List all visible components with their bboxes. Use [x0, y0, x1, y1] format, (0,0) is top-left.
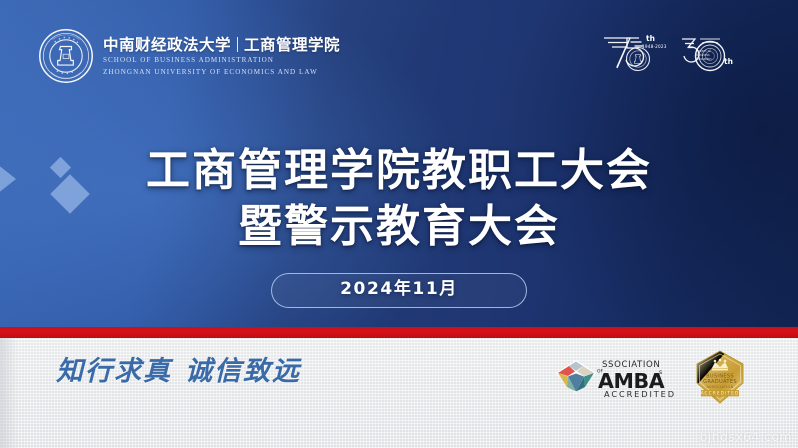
red-divider-rule	[0, 327, 798, 338]
svg-text:OF: OF	[597, 369, 603, 375]
svg-text:1948-2023: 1948-2023	[642, 44, 667, 49]
logo-school-cn: 工商管理学院	[244, 37, 340, 53]
anniversary-marks: th 1948-2023 th Project of	[598, 26, 740, 78]
logo-english-line-2: ZHONGNAN UNIVERSITY OF ECONOMICS AND LAW	[103, 67, 340, 77]
logo-text-block: 中南财经政法大学 工商管理学院 SCHOOL OF BUSINESS ADMIN…	[103, 35, 340, 77]
logo-university-cn: 中南财经政法大学	[103, 37, 231, 53]
motto-right: 诚信致远	[185, 356, 301, 387]
svg-text:th: th	[724, 57, 733, 66]
date-badge-label: 2024年11月	[340, 279, 458, 299]
svg-text:th: th	[646, 34, 655, 43]
logo-divider	[237, 37, 238, 52]
amba-accredited-badge-icon: SSOCIATION AMBA OF s ACCREDITED	[554, 355, 680, 399]
logo-chinese-row: 中南财经政法大学 工商管理学院	[103, 37, 340, 53]
university-seal-icon	[38, 28, 94, 84]
footer-left-shade	[0, 338, 18, 448]
university-logo-lockup: 中南财经政法大学 工商管理学院 SCHOOL OF BUSINESS ADMIN…	[38, 28, 340, 84]
bga-accredited-badge-icon: BUSINESS GRADUATES ASSOCIATION ACCREDITE…	[694, 350, 746, 404]
75th-anniversary-mark-icon: th 1948-2023	[598, 26, 670, 78]
accreditation-badges: SSOCIATION AMBA OF s ACCREDITED	[554, 350, 746, 404]
title-line-2: 暨警示教育大会	[0, 199, 798, 255]
title-line-1: 工商管理学院教职工大会	[0, 143, 798, 199]
30th-anniversary-mark-icon: th Project of Business Education	[676, 26, 740, 78]
date-badge: 2024年11月	[271, 273, 527, 308]
school-motto: 知行求真诚信致远	[56, 358, 301, 385]
presentation-slide: 中南财经政法大学 工商管理学院 SCHOOL OF BUSINESS ADMIN…	[0, 0, 798, 448]
svg-text:Education: Education	[696, 57, 711, 61]
logo-english-line-1: SCHOOL OF BUSINESS ADMINISTRATION	[103, 55, 340, 65]
slide-title: 工商管理学院教职工大会 暨警示教育大会	[0, 143, 798, 256]
svg-text:ACCREDITED: ACCREDITED	[701, 391, 740, 397]
motto-left: 知行求真	[56, 356, 172, 387]
svg-text:s: s	[659, 369, 662, 376]
site-watermark: bjhdsx64.com	[699, 431, 792, 444]
svg-text:ACCREDITED: ACCREDITED	[604, 389, 676, 399]
svg-text:ASSOCIATION: ASSOCIATION	[706, 385, 733, 389]
